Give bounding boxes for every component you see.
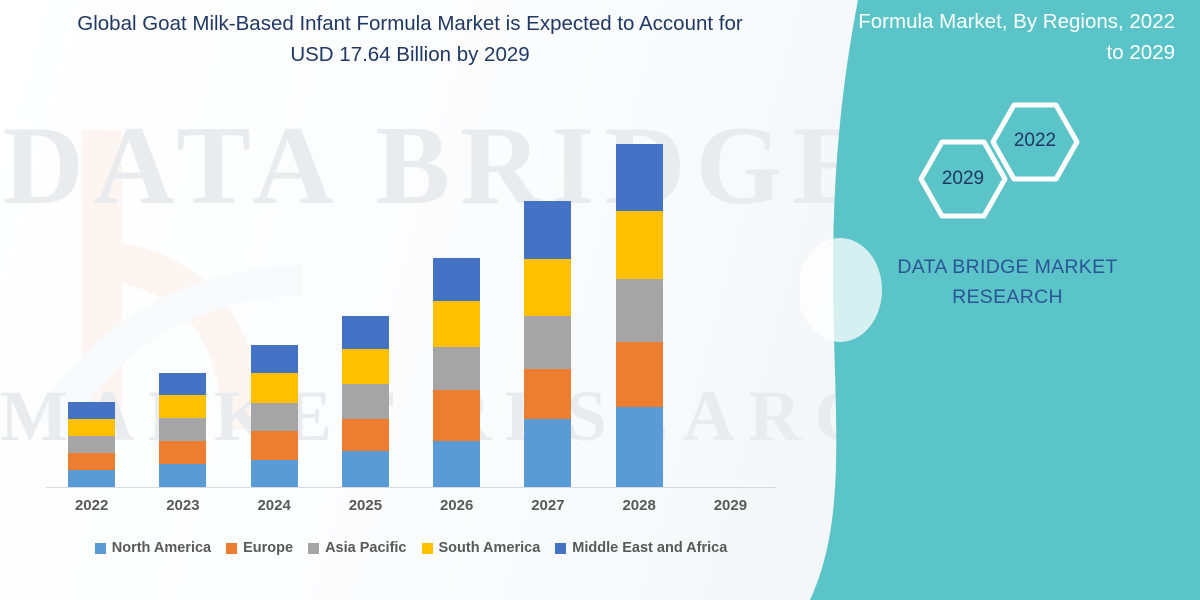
stacked-bar	[342, 316, 389, 487]
bar-segment	[342, 419, 389, 451]
panel-heading: Formula Market, By Regions, 2022 to 2029	[840, 6, 1175, 68]
bar-segment	[342, 384, 389, 419]
x-axis-labels: 20222023202420252026202720282029	[46, 497, 776, 514]
bar-segment	[342, 451, 389, 487]
legend-swatch-icon	[226, 543, 237, 554]
right-info-panel: Formula Market, By Regions, 2022 to 2029…	[800, 0, 1200, 600]
stacked-bar	[616, 144, 663, 487]
bar-segment	[159, 373, 206, 395]
x-axis-tick-label: 2023	[137, 497, 228, 514]
bar-segment	[342, 316, 389, 349]
bar-segment	[433, 390, 480, 441]
bar-column	[594, 120, 685, 487]
bar-segment	[159, 418, 206, 441]
bar-segment	[342, 349, 389, 384]
x-axis-line	[46, 487, 776, 488]
bar-segment	[251, 403, 298, 431]
bar-column	[502, 120, 593, 487]
bar-segment	[524, 259, 571, 316]
bar-segment	[251, 345, 298, 373]
legend-label: Middle East and Africa	[572, 540, 727, 556]
bar-segment	[68, 453, 115, 470]
bar-segment	[616, 342, 663, 407]
stacked-bar	[159, 373, 206, 487]
stacked-bar	[251, 345, 298, 487]
bar-segment	[68, 470, 115, 487]
page-title: Global Goat Milk-Based Infant Formula Ma…	[60, 8, 760, 70]
bar-segment	[251, 431, 298, 460]
bar-segment	[616, 279, 663, 342]
x-axis-tick-label: 2022	[46, 497, 137, 514]
chart-panel: DATA BRIDGE MARKET RESEARCH Global Goat …	[0, 0, 880, 600]
legend-label: Europe	[243, 540, 293, 556]
bar-column	[46, 120, 137, 487]
infographic-canvas: DATA BRIDGE MARKET RESEARCH Global Goat …	[0, 0, 1200, 600]
bar-segment	[251, 373, 298, 403]
legend-item[interactable]: Europe	[226, 540, 293, 556]
hexagon-outlines	[880, 85, 1200, 220]
legend-label: South America	[439, 540, 541, 556]
x-axis-tick-label: 2027	[502, 497, 593, 514]
x-axis-tick-label: 2025	[320, 497, 411, 514]
legend-swatch-icon	[555, 543, 566, 554]
legend-item[interactable]: Middle East and Africa	[555, 540, 727, 556]
stacked-bar	[524, 201, 571, 487]
hexagon-badges: 2029 2022	[880, 85, 1200, 220]
bar-segment	[433, 441, 480, 487]
bar-segment	[159, 395, 206, 418]
hexagon-label-2029: 2029	[935, 168, 991, 190]
brand-name: DATA BRIDGE MARKET RESEARCH	[840, 252, 1175, 312]
bar-segment	[524, 369, 571, 419]
bar-column	[229, 120, 320, 487]
legend-item[interactable]: North America	[95, 540, 211, 556]
bar-segment	[524, 419, 571, 487]
bar-segment	[159, 441, 206, 464]
bar-segment	[616, 407, 663, 487]
legend-label: Asia Pacific	[325, 540, 406, 556]
stacked-bar	[68, 402, 115, 487]
bar-segment	[433, 258, 480, 301]
x-axis-tick-label: 2024	[229, 497, 320, 514]
legend-swatch-icon	[422, 543, 433, 554]
right-panel-content: Formula Market, By Regions, 2022 to 2029…	[800, 0, 1200, 600]
bar-segment	[524, 201, 571, 259]
stacked-bar-chart	[46, 120, 776, 487]
x-axis-tick-label: 2028	[594, 497, 685, 514]
x-axis-tick-label: 2029	[685, 497, 776, 514]
bar-column	[137, 120, 228, 487]
legend-item[interactable]: Asia Pacific	[308, 540, 406, 556]
legend-swatch-icon	[308, 543, 319, 554]
bar-segment	[68, 419, 115, 436]
legend-item[interactable]: South America	[422, 540, 541, 556]
chart-legend: North AmericaEuropeAsia PacificSouth Ame…	[46, 540, 776, 556]
bar-segment	[251, 460, 298, 487]
x-axis-tick-label: 2026	[411, 497, 502, 514]
hexagon-label-2022: 2022	[1007, 130, 1063, 152]
bar-segment	[68, 436, 115, 453]
bar-column	[411, 120, 502, 487]
bar-segment	[433, 301, 480, 347]
legend-swatch-icon	[95, 543, 106, 554]
bar-segment	[616, 211, 663, 279]
bar-column	[685, 120, 776, 487]
bar-segment	[433, 347, 480, 390]
stacked-bar	[433, 258, 480, 487]
legend-label: North America	[112, 540, 211, 556]
bar-segment	[159, 464, 206, 487]
bar-segment	[68, 402, 115, 419]
bar-segment	[524, 316, 571, 369]
bar-segment	[616, 144, 663, 211]
bar-column	[320, 120, 411, 487]
